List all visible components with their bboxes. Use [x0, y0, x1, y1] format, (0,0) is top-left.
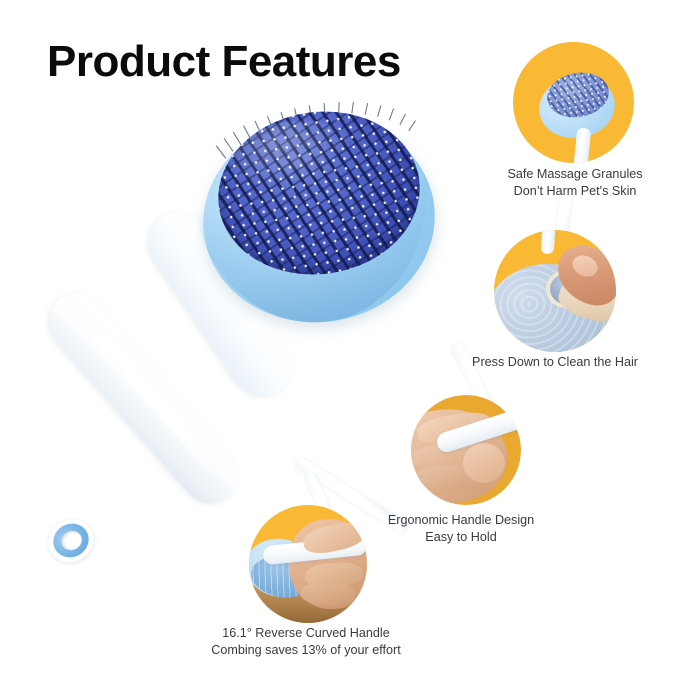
- press-handle-shaft: [541, 230, 557, 254]
- callout-bubble-1: [513, 42, 634, 163]
- brush-head-pin-pad: [208, 99, 431, 288]
- product-features-infographic: Product Features: [0, 0, 679, 679]
- callout-bubble-2: [494, 230, 616, 352]
- callout-caption-2: Press Down to Clean the Hair: [438, 354, 672, 371]
- comb-finger-3: [301, 582, 356, 606]
- callout-caption-1: Safe Massage Granules Don’t Harm Pet's S…: [471, 166, 679, 199]
- callout-caption-4: 16.1° Reverse Curved Handle Combing save…: [186, 625, 426, 658]
- page-title: Product Features: [47, 38, 401, 86]
- grip-thumb: [463, 443, 505, 483]
- callout-bubble-4: [249, 505, 367, 623]
- callout-bubble-3: [411, 395, 521, 505]
- callout-caption-3: Ergonomic Handle Design Easy to Hold: [366, 512, 556, 545]
